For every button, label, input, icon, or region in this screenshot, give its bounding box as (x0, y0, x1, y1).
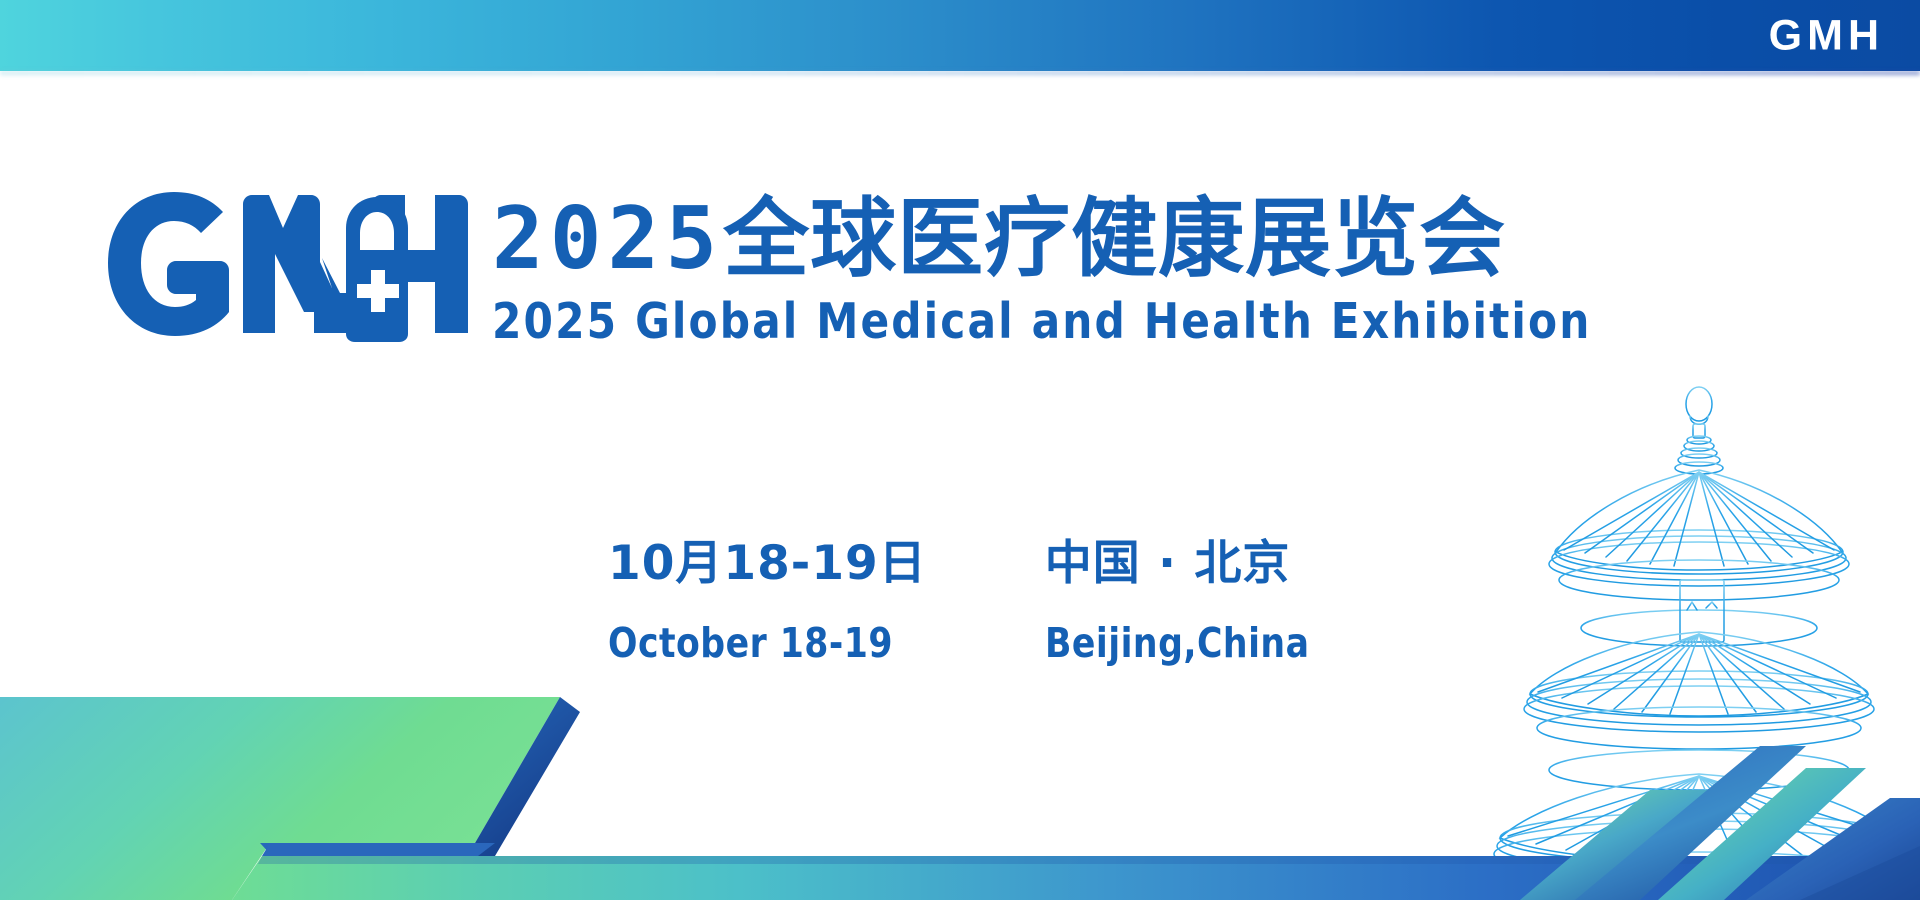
event-title-chinese: 2025全球医疗健康展览会 (492, 196, 1692, 282)
bottom-decoration (0, 650, 1920, 900)
event-title-year: 2025 (492, 189, 723, 289)
temple-of-heaven-icon (1484, 380, 1914, 900)
event-place-english: Beijing,China (1045, 623, 1309, 664)
event-title-block: 2025全球医疗健康展览会 2025 Global Medical and He… (492, 196, 1692, 347)
event-date: 10月18-19日 October 18-19 (608, 540, 927, 664)
event-info-block: 10月18-19日 October 18-19 中国 · 北京 Beijing,… (608, 540, 1326, 664)
event-banner: GMH 2025全球医疗健康展览会 (0, 0, 1920, 900)
top-bar-shadow (0, 71, 1920, 75)
gmh-logo (108, 192, 468, 342)
event-place: 中国 · 北京 Beijing,China (1045, 540, 1326, 664)
event-place-chinese: 中国 · 北京 (1045, 540, 1326, 587)
event-date-english: October 18-19 (608, 623, 908, 664)
top-bar: GMH (0, 0, 1920, 71)
event-title-english: 2025 Global Medical and Health Exhibitio… (492, 296, 1644, 347)
event-date-chinese: 10月18-19日 (608, 540, 927, 587)
event-title-chinese-text: 全球医疗健康展览会 (723, 189, 1506, 289)
topbar-brand-label: GMH (1769, 14, 1884, 57)
